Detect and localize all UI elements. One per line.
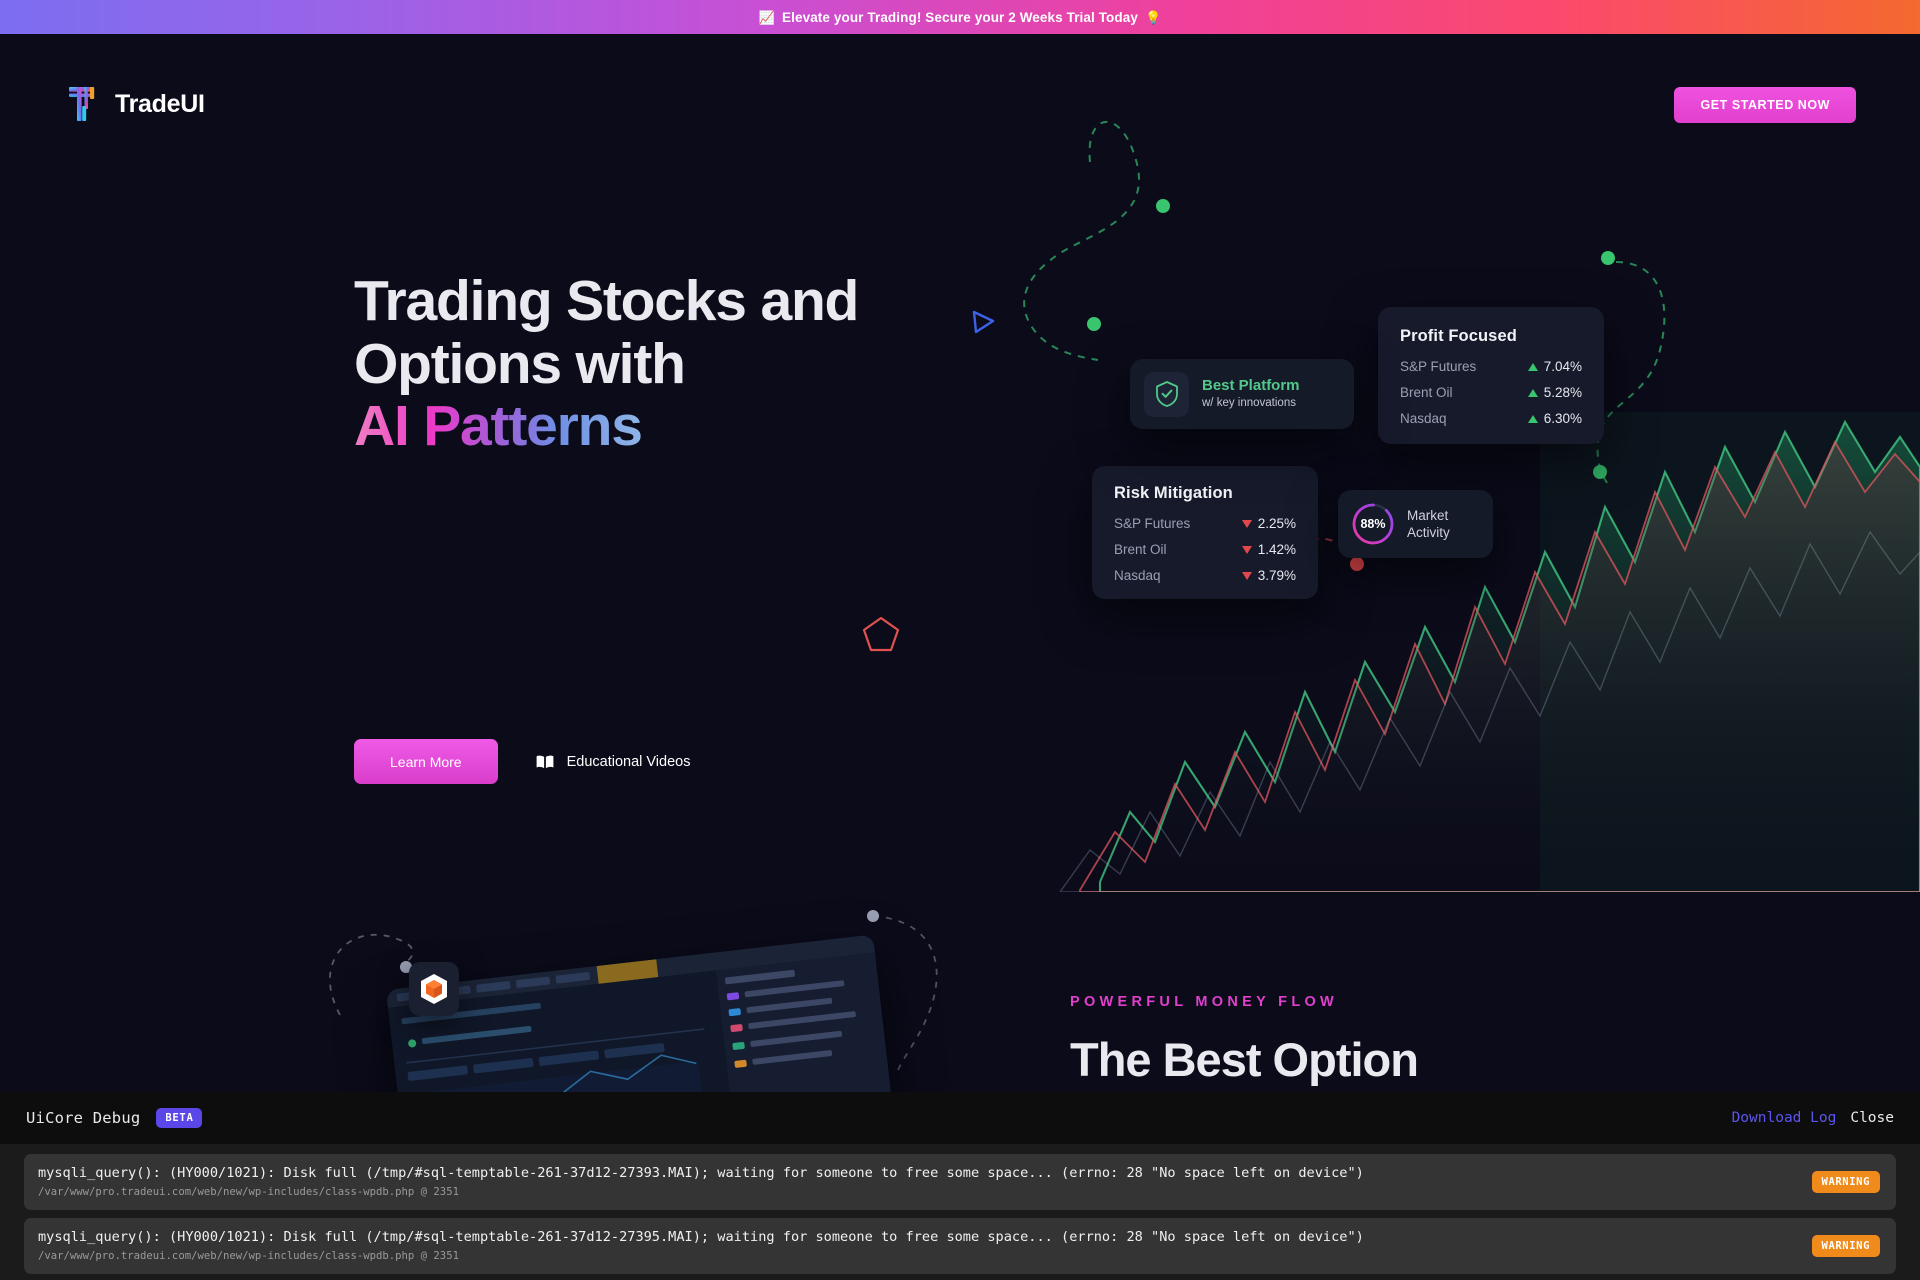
hero-title: Trading Stocks and Options with AI Patte… <box>354 270 994 458</box>
pentagon-outline-icon <box>861 614 901 654</box>
stat-row: S&P Futures 7.04% <box>1400 359 1582 374</box>
triangle-down-icon <box>1242 572 1252 580</box>
hero-section: Trading Stocks and Options with AI Patte… <box>0 102 1920 802</box>
brand-logo[interactable]: TradeUI <box>68 84 205 124</box>
market-activity-label: Market Activity <box>1407 507 1450 542</box>
market-activity-donut: 88% <box>1351 502 1395 546</box>
market-activity-percent: 88% <box>1351 502 1395 546</box>
promo-banner-label: Elevate your Trading! Secure your 2 Week… <box>782 10 1138 25</box>
page-root: 📈 Elevate your Trading! Secure your 2 We… <box>0 0 1920 1280</box>
get-started-button[interactable]: GET STARTED NOW <box>1674 87 1856 123</box>
light-bulb-icon: 💡 <box>1145 11 1161 24</box>
best-platform-subtitle: w/ key innovations <box>1202 396 1300 411</box>
stat-value: 3.79% <box>1258 568 1296 583</box>
stat-value-wrap: 3.79% <box>1242 568 1296 583</box>
webpack-cube-badge[interactable] <box>409 962 459 1016</box>
triangle-up-icon <box>1528 389 1538 397</box>
stat-value: 7.04% <box>1544 359 1582 374</box>
log-message: mysqli_query(): (HY000/1021): Disk full … <box>38 1229 1766 1246</box>
stat-row: Nasdaq 6.30% <box>1400 411 1582 426</box>
market-activity-label-line1: Market <box>1407 507 1450 524</box>
site-header: TradeUI GET STARTED NOW <box>0 34 1920 102</box>
log-message: mysqli_query(): (HY000/1021): Disk full … <box>38 1165 1766 1182</box>
stat-value-wrap: 6.30% <box>1528 411 1582 426</box>
debug-log-list[interactable]: mysqli_query(): (HY000/1021): Disk full … <box>0 1144 1920 1274</box>
best-platform-title: Best Platform <box>1202 377 1300 396</box>
section-title: The Best Option <box>1070 1032 1418 1087</box>
webpack-cube-icon <box>419 973 449 1005</box>
hero-title-line-2: Options with <box>354 332 685 396</box>
stat-label: Nasdaq <box>1400 411 1447 426</box>
log-entry[interactable]: mysqli_query(): (HY000/1021): Disk full … <box>24 1154 1896 1210</box>
educational-videos-label: Educational Videos <box>567 754 691 770</box>
stat-value: 1.42% <box>1258 542 1296 557</box>
triangle-up-icon <box>1528 415 1538 423</box>
triangle-down-icon <box>1242 520 1252 528</box>
log-source: /var/www/pro.tradeui.com/web/new/wp-incl… <box>38 1250 1766 1262</box>
stat-value: 2.25% <box>1258 516 1296 531</box>
triangle-up-icon <box>1528 363 1538 371</box>
best-platform-card[interactable]: Best Platform w/ key innovations <box>1130 359 1354 429</box>
debug-console-actions: Download Log Close <box>1732 1110 1894 1126</box>
debug-console-header: UiCore Debug BETA Download Log Close <box>0 1092 1920 1144</box>
tradeui-t-logo-icon <box>68 84 104 124</box>
download-log-button[interactable]: Download Log <box>1732 1110 1837 1126</box>
log-source: /var/www/pro.tradeui.com/web/new/wp-incl… <box>38 1186 1766 1198</box>
shield-check-icon <box>1144 372 1189 417</box>
best-platform-text: Best Platform w/ key innovations <box>1202 377 1300 411</box>
log-entry[interactable]: mysqli_query(): (HY000/1021): Disk full … <box>24 1218 1896 1274</box>
stat-row: Brent Oil 1.42% <box>1114 542 1296 557</box>
hero-title-line-1: Trading Stocks and <box>354 269 858 333</box>
stat-label: Nasdaq <box>1114 568 1161 583</box>
log-level-badge: WARNING <box>1812 1235 1880 1257</box>
stat-value-wrap: 7.04% <box>1528 359 1582 374</box>
debug-console-title: UiCore Debug <box>26 1109 140 1127</box>
triangle-down-icon <box>1242 546 1252 554</box>
stat-label: Brent Oil <box>1114 542 1167 557</box>
promo-banner[interactable]: 📈 Elevate your Trading! Secure your 2 We… <box>0 0 1920 34</box>
stat-label: S&P Futures <box>1114 516 1190 531</box>
stat-label: S&P Futures <box>1400 359 1476 374</box>
hero-copy: Trading Stocks and Options with AI Patte… <box>354 270 994 458</box>
hero-title-gradient-line: AI Patterns <box>354 394 642 458</box>
stat-value-wrap: 2.25% <box>1242 516 1296 531</box>
debug-console: UiCore Debug BETA Download Log Close mys… <box>0 1092 1920 1280</box>
risk-mitigation-card[interactable]: Risk Mitigation S&P Futures 2.25% Brent … <box>1092 466 1318 599</box>
section-eyebrow: POWERFUL MONEY FLOW <box>1070 994 1338 1010</box>
open-book-icon <box>536 755 554 769</box>
stat-value-wrap: 1.42% <box>1242 542 1296 557</box>
profit-card-title: Profit Focused <box>1400 327 1582 346</box>
learn-more-button[interactable]: Learn More <box>354 739 498 784</box>
brand-name: TradeUI <box>115 90 205 119</box>
educational-videos-link[interactable]: Educational Videos <box>536 754 691 770</box>
beta-badge: BETA <box>156 1108 202 1128</box>
market-activity-label-line2: Activity <box>1407 524 1450 541</box>
market-activity-card[interactable]: 88% Market Activity <box>1338 490 1493 558</box>
stat-value: 6.30% <box>1544 411 1582 426</box>
stat-row: S&P Futures 2.25% <box>1114 516 1296 531</box>
stat-value-wrap: 5.28% <box>1528 385 1582 400</box>
close-console-button[interactable]: Close <box>1850 1110 1894 1126</box>
risk-card-title: Risk Mitigation <box>1114 484 1296 503</box>
stat-label: Brent Oil <box>1400 385 1453 400</box>
profit-focused-card[interactable]: Profit Focused S&P Futures 7.04% Brent O… <box>1378 307 1604 444</box>
stat-row: Brent Oil 5.28% <box>1400 385 1582 400</box>
stat-value: 5.28% <box>1544 385 1582 400</box>
promo-banner-text: 📈 Elevate your Trading! Secure your 2 We… <box>759 10 1162 25</box>
hero-actions: Learn More Educational Videos <box>354 739 690 784</box>
chart-increasing-icon: 📈 <box>759 11 775 24</box>
log-level-badge: WARNING <box>1812 1171 1880 1193</box>
stat-row: Nasdaq 3.79% <box>1114 568 1296 583</box>
